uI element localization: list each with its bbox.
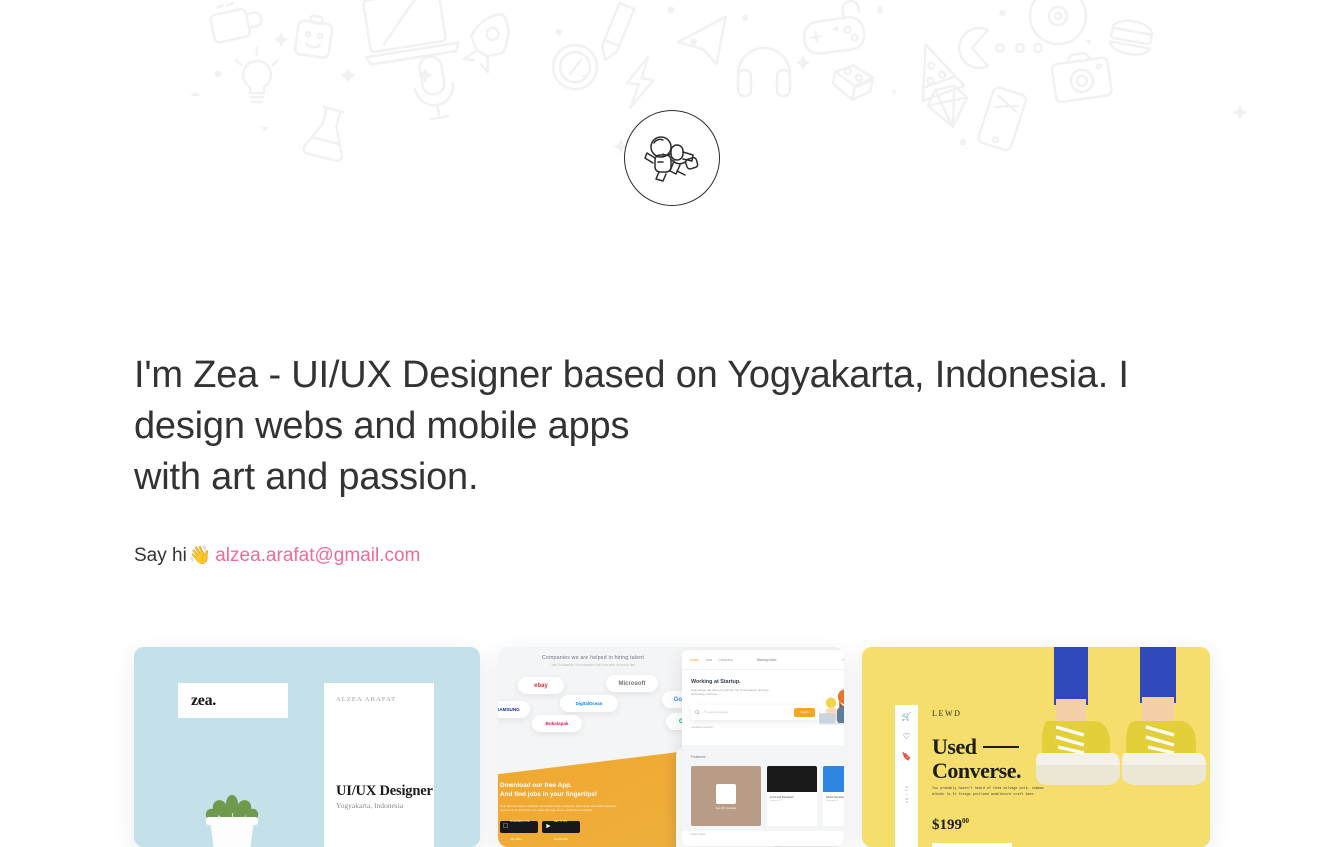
laptop-icon xyxy=(357,0,460,65)
product-title: Used Converse. xyxy=(932,735,1021,783)
featured-tile-2[interactable]: Front-end Developer Jakarta, ID xyxy=(767,766,817,826)
headline-line-1: I'm Zea - UI/UX Designer based on Yogyak… xyxy=(134,354,1129,447)
pacman-dots-icon xyxy=(996,44,1042,52)
pencil-icon xyxy=(598,3,635,63)
logo-samsung: SAMSUNG xyxy=(498,701,530,718)
play-big: Google Play xyxy=(554,838,568,841)
project-card-startupjobs[interactable]: Companies we are helped in hiring talent… xyxy=(498,647,844,847)
play-small: GET IT ON xyxy=(554,820,567,823)
featured-tile-1-title: Ayo UX Compass xyxy=(691,807,761,810)
nav-item-jobs[interactable]: Jobs xyxy=(705,658,712,662)
app-download-banner: Download our free App. And find jobs in … xyxy=(498,750,694,847)
potted-plant-image xyxy=(186,787,278,847)
sneakers-photo xyxy=(990,647,1210,847)
mockup-hero-title: Working at Startup. xyxy=(691,679,819,685)
logo-circle xyxy=(624,110,720,206)
app-store-small: Download on the xyxy=(510,820,529,823)
project-gallery: zea. ALZEA ARAFAT UI/UX Designer Yogyaka… xyxy=(134,647,1210,847)
nav-item-home[interactable]: Home xyxy=(690,658,699,662)
business-card-location: Yogyakarta, Indonesia xyxy=(336,801,403,810)
cart-icon[interactable]: 🛒 xyxy=(902,712,912,721)
job-search-placeholder: Try web developer xyxy=(704,710,729,714)
contact-line: Say hi👋alzea.arafat@gmail.com xyxy=(134,543,420,568)
slide-pager: 01 / 04 xyxy=(905,786,909,804)
google-play-icon: ► xyxy=(545,823,552,830)
job-search-button[interactable]: Search xyxy=(794,708,815,717)
heart-icon[interactable]: ♡ xyxy=(903,732,910,741)
zea-wordmark: zea. xyxy=(178,692,216,710)
headline-line-2: with art and passion. xyxy=(134,452,1134,503)
shop-brand: LEWD xyxy=(932,709,962,718)
site-logo[interactable] xyxy=(624,110,720,206)
gamepad-icon xyxy=(800,0,866,56)
business-card-role: UI/UX Designer xyxy=(336,783,433,800)
product-title-line2: Converse. xyxy=(932,758,1021,783)
logo-ebay: ebay xyxy=(518,677,564,694)
lego-brick-icon xyxy=(831,62,875,103)
nav-item-company[interactable]: Company xyxy=(718,658,733,662)
product-price: $19900 xyxy=(932,817,969,834)
paper-plane-icon xyxy=(676,17,731,68)
store-badges:  Download on the App Store ► GET IT ON … xyxy=(500,821,678,833)
job-search-bar[interactable]: Try web developer Search xyxy=(691,705,819,720)
bookmark-icon[interactable]: 🔖 xyxy=(902,752,912,761)
featured-tile-3-subtitle: Bandung, ID xyxy=(823,799,844,803)
featured-label: Featured xyxy=(691,755,705,759)
coffee-mug-icon xyxy=(208,0,264,43)
google-play-badge[interactable]: ► GET IT ON Google Play xyxy=(542,821,580,833)
team-illustration xyxy=(819,679,844,737)
app-store-badge[interactable]:  Download on the App Store xyxy=(500,821,538,833)
say-hi-label: Say hi xyxy=(134,545,187,566)
rocket-icon xyxy=(460,6,519,74)
lego-head-icon xyxy=(294,14,333,58)
waving-hand-icon: 👋 xyxy=(189,545,211,565)
company-logos-heading: Companies we are helped in hiring talent xyxy=(498,655,688,661)
app-title-line2: And find jobs in your fingertips! xyxy=(500,790,678,799)
astronaut-icon xyxy=(641,127,703,189)
product-description: You probably haven't heard of them selva… xyxy=(932,787,1050,798)
page-title: I'm Zea - UI/UX Designer based on Yogyak… xyxy=(134,350,1134,503)
pizza-icon xyxy=(905,37,964,101)
project-card-converse-shop[interactable]: 🛒 ♡ 🔖 01 / 04 LEWD Used Converse. You pr… xyxy=(862,647,1210,847)
featured-tile-1[interactable]: Ayo UX Compass xyxy=(691,766,761,826)
nav-signin[interactable]: Sign in xyxy=(843,658,844,662)
project-card-zea-branding[interactable]: zea. ALZEA ARAFAT UI/UX Designer Yogyaka… xyxy=(134,647,480,847)
featured-tile-2-title: Front-end Developer xyxy=(767,792,817,799)
microphone-icon xyxy=(410,53,458,121)
lightning-bolt-icon xyxy=(625,55,656,109)
desktop-mockup: Home Jobs Company StartupJobs Sign in Si… xyxy=(682,650,844,846)
business-card: ALZEA ARAFAT UI/UX Designer Yogyakarta, … xyxy=(324,683,434,847)
zea-logo-card: zea. xyxy=(178,683,288,718)
featured-tile-2-subtitle: Jakarta, ID xyxy=(767,799,817,803)
mockup-hero-paragraph: Help shape the future by joining one of … xyxy=(691,688,783,697)
add-to-cart-button[interactable]: ADD TO CART xyxy=(932,843,1012,847)
product-title-line1: Used xyxy=(932,734,976,759)
cd-disc-icon xyxy=(1030,0,1086,44)
featured-tile-3-title: Senior Developer xyxy=(823,792,844,799)
title-rule xyxy=(983,746,1019,748)
smartphone-icon xyxy=(977,86,1027,152)
flask-icon xyxy=(303,105,353,162)
business-card-name: ALZEA ARAFAT xyxy=(336,696,422,703)
mockup-footer-left: Latest Jobs xyxy=(691,832,705,836)
lightbulb-icon xyxy=(236,48,278,102)
camera-icon xyxy=(1050,50,1112,102)
pacman-icon xyxy=(959,28,988,68)
shop-left-rail: 🛒 ♡ 🔖 01 / 04 xyxy=(895,705,918,847)
search-icon xyxy=(695,710,700,715)
burger-icon xyxy=(1109,18,1154,57)
compass-icon xyxy=(553,45,597,89)
app-title-line1: Download our free App. xyxy=(500,781,678,790)
company-logos-subheading: Join thousands of companies that hire wi… xyxy=(498,663,688,667)
apple-icon:  xyxy=(503,823,508,830)
app-store-big: App Store xyxy=(510,838,522,841)
logo-microsoft: Microsoft xyxy=(606,675,658,692)
startupjobs-brand: StartupJobs xyxy=(757,658,777,662)
featured-tile-3[interactable]: Senior Developer Bandung, ID xyxy=(823,766,844,826)
logo-digitalocean: DigitalOcean xyxy=(560,695,618,712)
email-link[interactable]: alzea.arafat@gmail.com xyxy=(215,545,420,566)
headphones-icon xyxy=(738,48,790,96)
logo-bukalapak: Bukalapak xyxy=(532,715,582,732)
price-value: $199 xyxy=(932,817,962,833)
mockup-navbar: Home Jobs Company StartupJobs Sign in Si… xyxy=(682,650,844,670)
advanced-search-link[interactable]: Advanced search xyxy=(691,725,819,729)
price-cents: 00 xyxy=(962,817,969,825)
diamond-icon xyxy=(925,84,972,131)
